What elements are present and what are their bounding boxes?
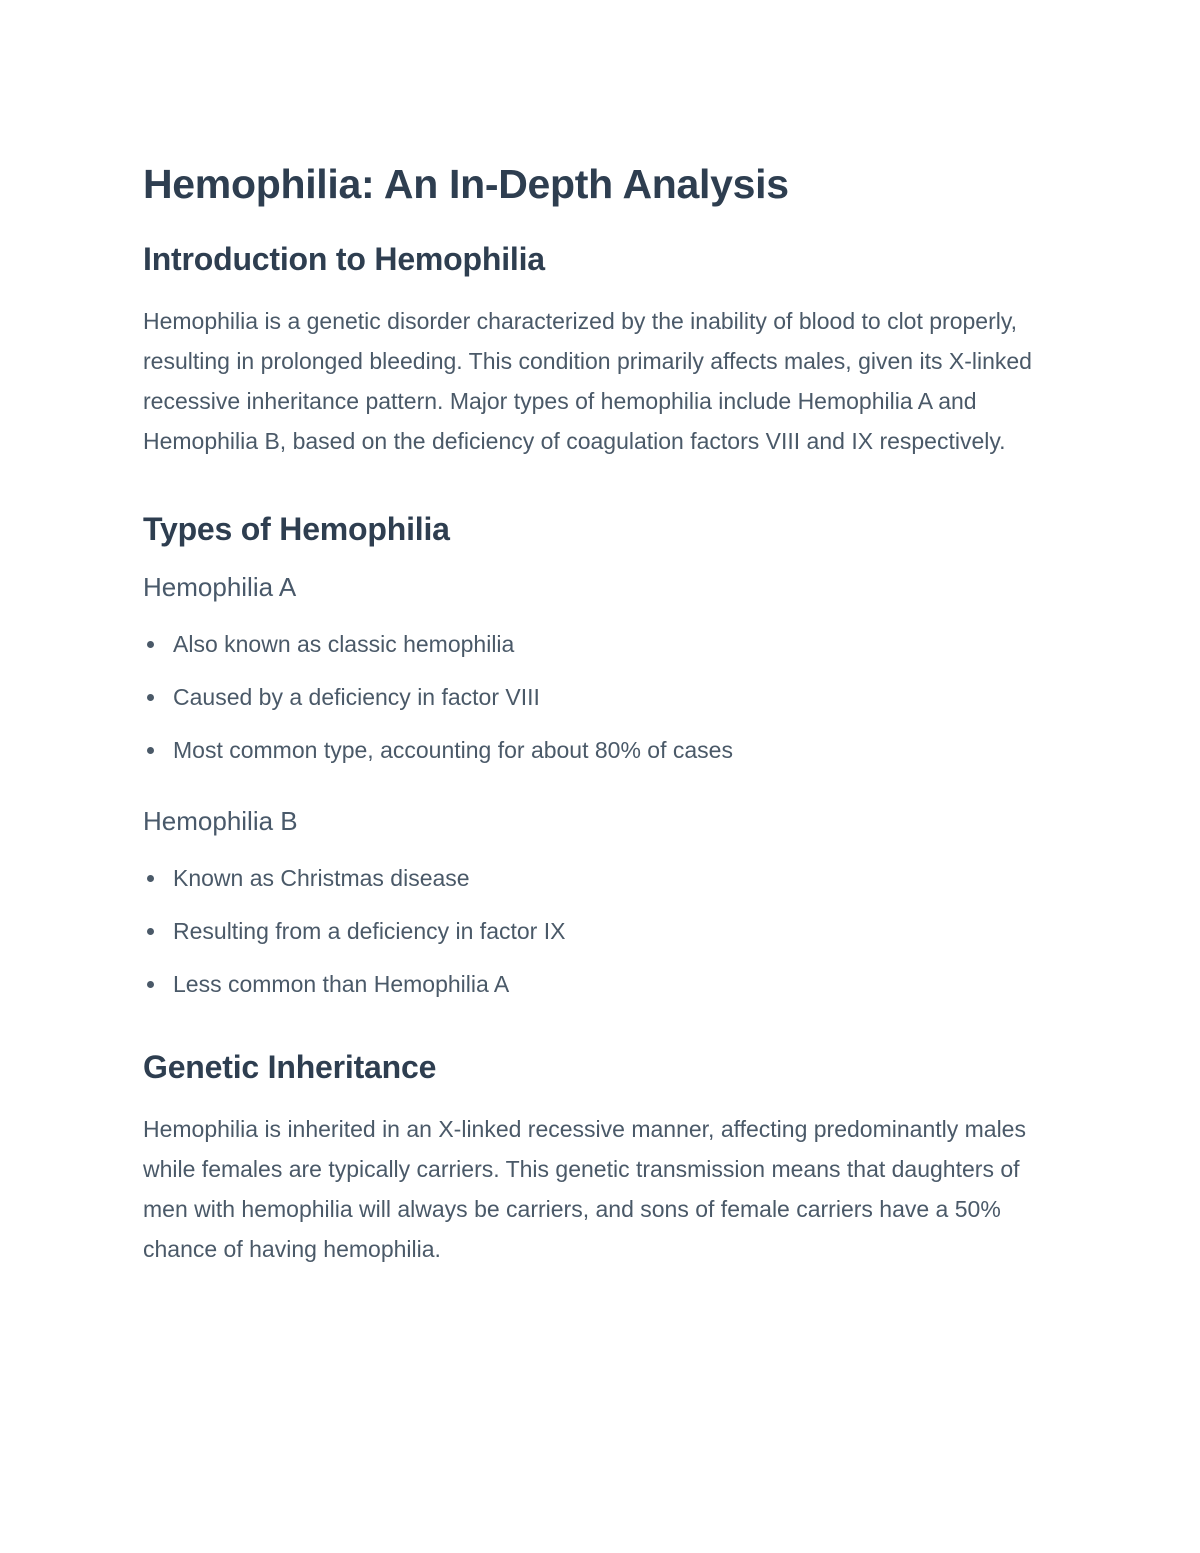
- document-content: Hemophilia: An In-Depth Analysis Introdu…: [143, 160, 1058, 1293]
- list-item: Known as Christmas disease: [143, 863, 1058, 893]
- bullet-dot-icon: [147, 928, 154, 935]
- paragraph-introduction: Hemophilia is a genetic disorder charact…: [143, 301, 1058, 461]
- page-title: Hemophilia: An In-Depth Analysis: [143, 160, 1058, 209]
- bullet-list-hemophilia-b: Known as Christmas disease Resulting fro…: [143, 863, 1058, 999]
- list-item-label: Resulting from a deficiency in factor IX: [173, 918, 565, 944]
- section-types: Types of Hemophilia Hemophilia A Also kn…: [143, 509, 1058, 999]
- paragraph-genetic-inheritance: Hemophilia is inherited in an X-linked r…: [143, 1109, 1058, 1269]
- section-introduction: Introduction to Hemophilia Hemophilia is…: [143, 239, 1058, 461]
- list-item: Caused by a deficiency in factor VIII: [143, 682, 1058, 712]
- section-heading-genetic-inheritance: Genetic Inheritance: [143, 1047, 1058, 1087]
- list-item: Also known as classic hemophilia: [143, 629, 1058, 659]
- bullet-dot-icon: [147, 747, 154, 754]
- bullet-dot-icon: [147, 981, 154, 988]
- section-genetic-inheritance: Genetic Inheritance Hemophilia is inheri…: [143, 1047, 1058, 1269]
- bullet-dot-icon: [147, 641, 154, 648]
- section-heading-types: Types of Hemophilia: [143, 509, 1058, 549]
- section-heading-introduction: Introduction to Hemophilia: [143, 239, 1058, 279]
- list-item-label: Also known as classic hemophilia: [173, 631, 514, 657]
- list-item: Less common than Hemophilia A: [143, 969, 1058, 999]
- subsection-heading-hemophilia-a: Hemophilia A: [143, 571, 1058, 605]
- list-item-label: Most common type, accounting for about 8…: [173, 737, 733, 763]
- list-item: Most common type, accounting for about 8…: [143, 735, 1058, 765]
- document-page: Hemophilia: An In-Depth Analysis Introdu…: [0, 0, 1200, 1553]
- bullet-dot-icon: [147, 694, 154, 701]
- bullet-dot-icon: [147, 875, 154, 882]
- subsection-heading-hemophilia-b: Hemophilia B: [143, 805, 1058, 839]
- list-item-label: Known as Christmas disease: [173, 865, 470, 891]
- list-item: Resulting from a deficiency in factor IX: [143, 916, 1058, 946]
- list-item-label: Caused by a deficiency in factor VIII: [173, 684, 540, 710]
- bullet-list-hemophilia-a: Also known as classic hemophilia Caused …: [143, 629, 1058, 765]
- list-item-label: Less common than Hemophilia A: [173, 971, 509, 997]
